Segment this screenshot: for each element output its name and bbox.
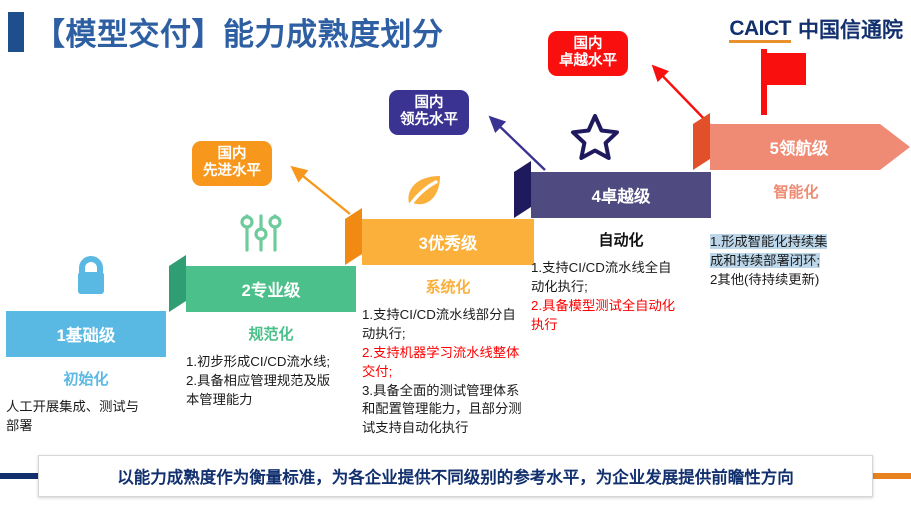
level-5-line-3: 2其他(待持续更新) — [710, 271, 888, 290]
level-5-bar-fold — [693, 113, 710, 170]
level-5-line-1: 1.形成智能化持续集 — [710, 234, 827, 249]
level-3-bar[interactable]: 3优秀级 — [362, 219, 534, 265]
page-title: 【模型交付】能力成熟度划分 — [34, 9, 444, 54]
callout-leading[interactable]: 国内 领先水平 — [389, 90, 469, 135]
level-2-line-1: 1.初步形成CI/CD流水线; — [186, 353, 358, 372]
callout-excellent-line2: 卓越水平 — [559, 53, 617, 70]
level-3-line-3: 2.支持机器学习流水线整体 — [362, 344, 542, 363]
logo-mark-text: CAICT — [729, 18, 791, 43]
level-3-bar-fold — [345, 208, 362, 265]
summary-banner: 以能力成熟度作为衡量标准，为各企业提供不同级别的参考水平，为企业发展提供前瞻性方… — [38, 455, 873, 497]
level-card-4[interactable]: 4卓越级 自动化 1.支持CI/CD流水线全自 动化执行; 2.具备模型测试全自… — [531, 172, 711, 335]
level-1-line-1: 人工开展集成、测试与 — [6, 398, 161, 417]
callout-excellent[interactable]: 国内 卓越水平 — [548, 31, 628, 76]
lock-icon — [70, 253, 112, 299]
banner-left-accent — [0, 473, 42, 479]
level-card-2[interactable]: 2专业级 规范化 1.初步形成CI/CD流水线; 2.具备相应管理规范及版 本管… — [186, 266, 356, 410]
level-1-subhead: 初始化 — [6, 368, 166, 389]
level-3-line-4: 交付; — [362, 363, 542, 382]
level-1-line-2: 部署 — [6, 417, 161, 436]
level-3-line-6: 和配置管理能力，且部分测 — [362, 400, 542, 419]
level-2-line-2: 2.具备相应管理规范及版 — [186, 372, 358, 391]
level-3-line-2: 动执行; — [362, 325, 542, 344]
level-1-bar[interactable]: 1基础级 — [6, 311, 166, 357]
callout-leading-line2: 领先水平 — [400, 112, 458, 129]
level-card-5[interactable]: 5领航级 智能化 1.形成智能化持续集 成和持续部署闭环; 2其他(待持续更新) — [710, 124, 910, 290]
level-card-1[interactable]: 1基础级 初始化 人工开展集成、测试与 部署 — [6, 311, 166, 436]
level-3-body: 1.支持CI/CD流水线部分自 动执行; 2.支持机器学习流水线整体 交付; 3… — [362, 306, 542, 438]
level-4-bar[interactable]: 4卓越级 — [531, 172, 711, 218]
level-4-title: 4卓越级 — [592, 183, 651, 207]
star-icon — [570, 112, 620, 162]
level-2-bar-fold — [169, 255, 186, 312]
level-1-title: 1基础级 — [57, 322, 116, 346]
level-5-line-2: 成和持续部署闭环; — [710, 253, 820, 268]
banner-right-accent — [869, 473, 911, 479]
level-4-line-1: 1.支持CI/CD流水线全自 — [531, 259, 713, 278]
level-2-line-3: 本管理能力 — [186, 391, 358, 410]
level-5-body: 1.形成智能化持续集 成和持续部署闭环; 2其他(待持续更新) — [710, 233, 888, 290]
level-2-title: 2专业级 — [242, 277, 301, 301]
level-card-3[interactable]: 3优秀级 系统化 1.支持CI/CD流水线部分自 动执行; 2.支持机器学习流水… — [362, 219, 534, 438]
callout-advanced-line1: 国内 — [203, 146, 261, 163]
level-2-body: 1.初步形成CI/CD流水线; 2.具备相应管理规范及版 本管理能力 — [186, 353, 358, 410]
logo-chinese-text: 中国信通院 — [798, 20, 903, 41]
level-4-bar-fold — [514, 161, 531, 218]
callout-leading-line1: 国内 — [400, 95, 458, 112]
level-5-title: 5领航级 — [770, 135, 829, 159]
flag-icon — [758, 45, 810, 117]
level-1-body: 人工开展集成、测试与 部署 — [6, 398, 161, 436]
level-3-line-5: 3.具备全面的测试管理体系 — [362, 382, 542, 401]
level-3-line-7: 试支持自动化执行 — [362, 419, 542, 438]
level-4-line-4: 执行 — [531, 316, 713, 335]
level-4-subhead: 自动化 — [531, 229, 711, 250]
level-5-subhead: 智能化 — [710, 181, 882, 202]
slide-canvas: 【模型交付】能力成熟度划分 CAICT 中国信通院 — [0, 0, 911, 510]
callout-advanced[interactable]: 国内 先进水平 — [192, 141, 272, 186]
level-5-bar[interactable]: 5领航级 — [710, 124, 910, 170]
level-4-line-2: 动化执行; — [531, 278, 713, 297]
callout-excellent-line1: 国内 — [559, 36, 617, 53]
leaf-icon — [400, 170, 446, 212]
level-4-line-3: 2.具备模型测试全自动化 — [531, 297, 713, 316]
title-accent-bar — [8, 12, 24, 52]
level-4-body: 1.支持CI/CD流水线全自 动化执行; 2.具备模型测试全自动化 执行 — [531, 259, 713, 335]
callout-advanced-line2: 先进水平 — [203, 163, 261, 180]
sliders-icon — [238, 210, 284, 256]
level-3-line-1: 1.支持CI/CD流水线部分自 — [362, 306, 542, 325]
level-3-title: 3优秀级 — [419, 230, 478, 254]
summary-banner-text: 以能力成熟度作为衡量标准，为各企业提供不同级别的参考水平，为企业发展提供前瞻性方… — [117, 464, 794, 488]
level-3-subhead: 系统化 — [362, 276, 534, 297]
level-2-bar[interactable]: 2专业级 — [186, 266, 356, 312]
level-2-subhead: 规范化 — [186, 323, 356, 344]
caict-logo: CAICT 中国信通院 — [729, 18, 903, 43]
